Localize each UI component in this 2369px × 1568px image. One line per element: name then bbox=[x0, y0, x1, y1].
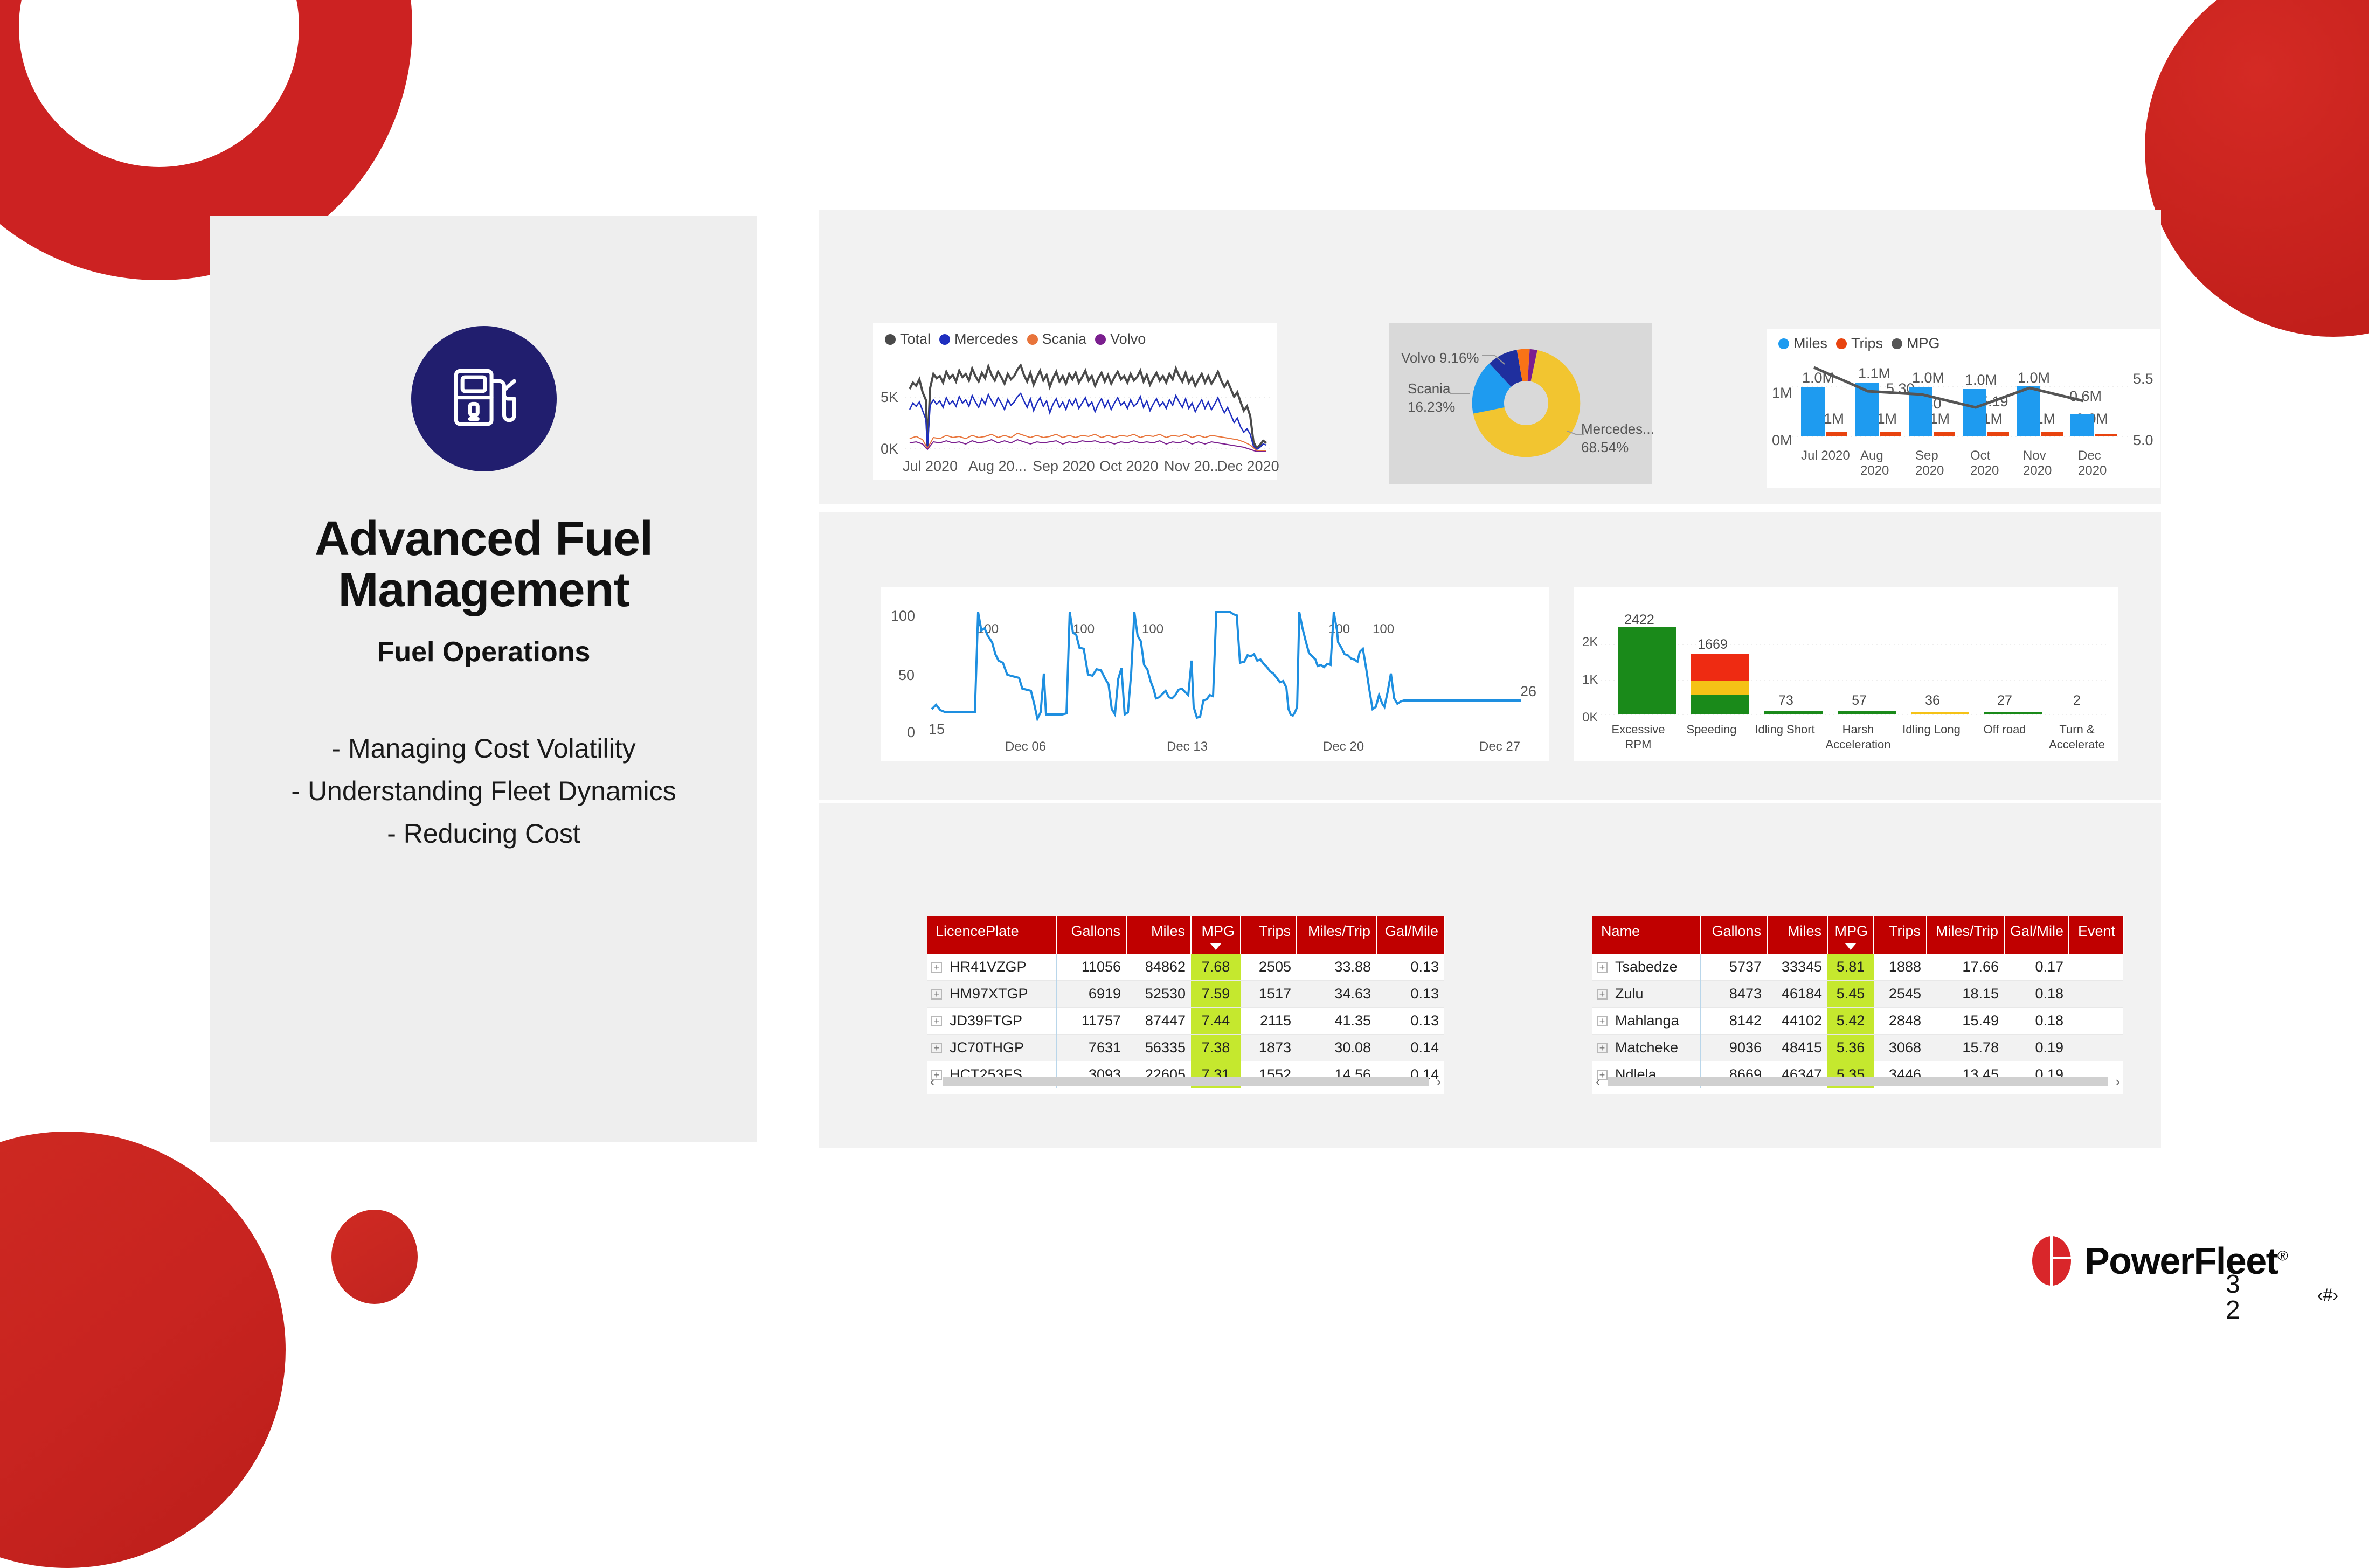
cell-miles-trip: 41.35 bbox=[1297, 1008, 1376, 1035]
row-expander-icon[interactable]: + bbox=[1597, 1016, 1608, 1026]
legend-label-volvo: Volvo bbox=[1110, 331, 1146, 348]
title-panel: Advanced Fuel Management Fuel Operations… bbox=[210, 216, 757, 1142]
col-header-miles-trip[interactable]: Miles/Trip bbox=[1297, 916, 1376, 954]
xaxis-cat-speeding: Speeding bbox=[1673, 722, 1750, 737]
cell-gal-mile: 0.18 bbox=[2004, 1008, 2069, 1035]
col-header-trips[interactable]: Trips bbox=[1241, 916, 1297, 954]
xaxis-tick-dec06: Dec 06 bbox=[1005, 739, 1046, 754]
drivers-ranking-table: Name Gallons Miles MPG Trips Miles/Trip … bbox=[1592, 916, 2124, 1088]
yaxis-tick-0k: 0K bbox=[881, 441, 898, 457]
col-header-miles[interactable]: Miles bbox=[1126, 916, 1191, 954]
powerfleet-logo-mark-icon bbox=[2031, 1234, 2073, 1288]
xaxis-tick-aug: Aug2020 bbox=[1860, 448, 1889, 478]
col-header-gal-mile[interactable]: Gal/Mile bbox=[1376, 916, 1444, 954]
fuel-pump-icon bbox=[444, 358, 524, 439]
daily-fuel-plot bbox=[905, 350, 1272, 455]
cell-miles: 87447 bbox=[1126, 1008, 1191, 1035]
cell-miles: 48415 bbox=[1767, 1035, 1827, 1061]
cell-licenceplate: +JC70THGP bbox=[927, 1035, 1056, 1061]
legend-dot-miles bbox=[1778, 338, 1789, 349]
cell-event bbox=[2069, 1008, 2123, 1035]
cell-trips: 1888 bbox=[1874, 954, 1927, 981]
page-number-placeholder: ‹#› bbox=[2317, 1285, 2338, 1305]
xaxis-tick-oct: Oct 2020 bbox=[1099, 458, 1159, 475]
miles-trips-mpg-plot bbox=[1792, 361, 2132, 442]
cell-trips: 2505 bbox=[1241, 954, 1297, 981]
yaxis-tick-1m: 1M bbox=[1772, 385, 1792, 401]
row-expander-icon[interactable]: + bbox=[931, 989, 942, 1000]
legend-label-miles: Miles bbox=[1793, 335, 1827, 352]
chart-fuel-level-by-day[interactable]: 100 50 0 15 26 100 100 100 100 100 Dec 0… bbox=[881, 587, 1549, 761]
cell-gallons: 7631 bbox=[1056, 1035, 1126, 1061]
cell-value: HM97XTGP bbox=[950, 986, 1028, 1002]
cell-trips: 1873 bbox=[1241, 1035, 1297, 1061]
horizontal-scrollbar-fleet[interactable]: ‹ › bbox=[927, 1072, 1444, 1091]
xaxis-tick-oct: Oct2020 bbox=[1970, 448, 1999, 478]
yaxis-tick-50: 50 bbox=[898, 667, 915, 684]
row-expander-icon[interactable]: + bbox=[1597, 1043, 1608, 1053]
cell-gallons: 5737 bbox=[1700, 954, 1767, 981]
page-number: 3 2 bbox=[2226, 1272, 2240, 1323]
legend-dot-mpg bbox=[1892, 338, 1902, 349]
col-header-mpg[interactable]: MPG bbox=[1827, 916, 1874, 954]
cell-gallons: 8473 bbox=[1700, 981, 1767, 1008]
col-header-name[interactable]: Name bbox=[1592, 916, 1700, 954]
legend-dot-total bbox=[885, 334, 896, 345]
cell-miles-trip: 34.63 bbox=[1297, 981, 1376, 1008]
legend-label-mpg: MPG bbox=[1907, 335, 1940, 352]
table-row[interactable]: +Mahlanga 8142 44102 5.42 2848 15.49 0.1… bbox=[1592, 1008, 2123, 1035]
scroll-left-arrow[interactable]: ‹ bbox=[930, 1073, 935, 1090]
chart-fuel-consumption-make-model[interactable]: Volvo 9.16% Scania 16.23% Mercedes... 68… bbox=[1389, 323, 1652, 484]
col-header-trips[interactable]: Trips bbox=[1874, 916, 1927, 954]
legend-dot-volvo bbox=[1095, 334, 1106, 345]
legend-item-trips: Trips bbox=[1836, 335, 1883, 352]
legend-dot-scania bbox=[1027, 334, 1038, 345]
yaxis-tick-0: 0 bbox=[907, 724, 915, 741]
legend-dot-trips bbox=[1836, 338, 1847, 349]
cell-value: JD39FTGP bbox=[950, 1012, 1022, 1029]
cell-trips: 2545 bbox=[1874, 981, 1927, 1008]
cell-gal-mile: 0.13 bbox=[1376, 954, 1444, 981]
cell-name: +Matcheke bbox=[1592, 1035, 1700, 1061]
cell-gal-mile: 0.17 bbox=[2004, 954, 2069, 981]
table-row[interactable]: +HR41VZGP 11056 84862 7.68 2505 33.88 0.… bbox=[927, 954, 1444, 981]
xaxis-tick-sep: Sep 2020 bbox=[1033, 458, 1095, 475]
donut-leader-lines bbox=[1389, 323, 1652, 484]
cell-gal-mile: 0.13 bbox=[1376, 1008, 1444, 1035]
cell-mpg: 5.42 bbox=[1827, 1008, 1874, 1035]
registered-trademark: ® bbox=[2277, 1248, 2287, 1264]
yaxis-tick-1k: 1K bbox=[1582, 672, 1598, 688]
table-row[interactable]: +HM97XTGP 6919 52530 7.59 1517 34.63 0.1… bbox=[927, 981, 1444, 1008]
legend-item-mpg: MPG bbox=[1892, 335, 1940, 352]
cell-miles-trip: 15.49 bbox=[1927, 1008, 2004, 1035]
table-row[interactable]: +Matcheke 9036 48415 5.36 3068 15.78 0.1… bbox=[1592, 1035, 2123, 1061]
cell-mpg: 5.81 bbox=[1827, 954, 1874, 981]
col-header-gallons[interactable]: Gallons bbox=[1700, 916, 1767, 954]
legend-label-mercedes: Mercedes bbox=[954, 331, 1019, 348]
row-expander-icon[interactable]: + bbox=[931, 1043, 942, 1053]
cell-trips: 3068 bbox=[1874, 1035, 1927, 1061]
bullet-item: - Understanding Fleet Dynamics bbox=[210, 770, 757, 813]
brand-text: PowerFleet bbox=[2084, 1240, 2277, 1282]
yaxis-tick-2k: 2K bbox=[1582, 635, 1598, 650]
page-number-line2: 2 bbox=[2226, 1298, 2240, 1323]
scrollbar-track[interactable] bbox=[1608, 1077, 2108, 1086]
cell-trips: 1517 bbox=[1241, 981, 1297, 1008]
cell-gal-mile: 0.14 bbox=[1376, 1035, 1444, 1061]
decorative-circle-bottom-left bbox=[0, 1132, 286, 1568]
cell-miles-trip: 17.66 bbox=[1927, 954, 2004, 981]
cell-event bbox=[2069, 954, 2123, 981]
cell-miles-trip: 18.15 bbox=[1927, 981, 2004, 1008]
cell-miles-trip: 30.08 bbox=[1297, 1035, 1376, 1061]
cell-miles-trip: 33.88 bbox=[1297, 954, 1376, 981]
chart-maneuver-statistics[interactable]: 2K 1K 0K 2422 1669 73 57 36 27 2 2415 73… bbox=[1574, 587, 2118, 761]
xaxis-tick-nov: Nov2020 bbox=[2023, 448, 2052, 478]
cell-mpg: 7.44 bbox=[1191, 1008, 1241, 1035]
col-header-miles[interactable]: Miles bbox=[1767, 916, 1827, 954]
legend-label-trips: Trips bbox=[1851, 335, 1883, 352]
cell-licenceplate: +JD39FTGP bbox=[927, 1008, 1056, 1035]
table-row[interactable]: +Tsabedze 5737 33345 5.81 1888 17.66 0.1… bbox=[1592, 954, 2123, 981]
xaxis-cat-turn-accel: Turn & Accelerate bbox=[2038, 722, 2116, 752]
cell-gallons: 11757 bbox=[1056, 1008, 1126, 1035]
cell-name: +Mahlanga bbox=[1592, 1008, 1700, 1035]
table-row[interactable]: +Zulu 8473 46184 5.45 2545 18.15 0.18 bbox=[1592, 981, 2123, 1008]
row-expander-icon[interactable]: + bbox=[931, 962, 942, 973]
decorative-circle-top-right bbox=[2145, 0, 2369, 337]
cell-event bbox=[2069, 1035, 2123, 1061]
cell-gallons: 8142 bbox=[1700, 1008, 1767, 1035]
scroll-right-arrow[interactable]: › bbox=[2115, 1073, 2120, 1090]
legend-item-scania: Scania bbox=[1027, 331, 1087, 348]
cell-licenceplate: +HM97XTGP bbox=[927, 981, 1056, 1008]
cell-miles: 84862 bbox=[1126, 954, 1191, 981]
maneuver-plot bbox=[1601, 620, 2107, 717]
horizontal-scrollbar-drivers[interactable]: ‹ › bbox=[1592, 1072, 2123, 1091]
cell-miles: 33345 bbox=[1767, 954, 1827, 981]
table-header-row: Name Gallons Miles MPG Trips Miles/Trip … bbox=[1592, 916, 2123, 954]
page-title-line-2: Management bbox=[260, 565, 708, 616]
col-header-mpg[interactable]: MPG bbox=[1191, 916, 1241, 954]
page-title: Advanced Fuel Management bbox=[260, 514, 708, 616]
legend-miles-trips-mpg: Miles Trips MPG bbox=[1778, 335, 1940, 352]
table-row[interactable]: +JD39FTGP 11757 87447 7.44 2115 41.35 0.… bbox=[927, 1008, 1444, 1035]
cell-value: Zulu bbox=[1615, 986, 1644, 1002]
cell-miles: 46184 bbox=[1767, 981, 1827, 1008]
cell-miles: 44102 bbox=[1767, 1008, 1827, 1035]
xaxis-tick-dec27: Dec 27 bbox=[1479, 739, 1520, 754]
xaxis-cat-idling-long: Idling Long bbox=[1893, 722, 1970, 737]
y2axis-tick-50: 5.0 bbox=[2133, 432, 2153, 449]
chart-daily-fuel-consumption[interactable]: Total Mercedes Scania Volvo 5K 0K Jul 20… bbox=[873, 323, 1277, 480]
cell-value: JC70THGP bbox=[950, 1039, 1024, 1056]
xaxis-tick-dec: Dec2020 bbox=[2078, 448, 2107, 478]
xaxis-tick-dec20: Dec 20 bbox=[1323, 739, 1364, 754]
cell-miles: 56335 bbox=[1126, 1035, 1191, 1061]
col-header-miles-trip[interactable]: Miles/Trip bbox=[1927, 916, 2004, 954]
legend-daily-fuel: Total Mercedes Scania Volvo bbox=[885, 331, 1146, 348]
col-header-event[interactable]: Event bbox=[2069, 916, 2123, 954]
xaxis-tick-sep: Sep2020 bbox=[1915, 448, 1944, 478]
xaxis-tick-dec: Dec 2020 bbox=[1217, 458, 1279, 475]
xaxis-tick-jul: Jul 2020 bbox=[1801, 448, 1850, 463]
xaxis-cat-idling-short: Idling Short bbox=[1746, 722, 1824, 737]
cell-mpg: 5.36 bbox=[1827, 1035, 1874, 1061]
cell-value: Mahlanga bbox=[1615, 1012, 1679, 1029]
cell-event bbox=[2069, 981, 2123, 1008]
bullet-list: - Managing Cost Volatility - Understandi… bbox=[210, 727, 757, 855]
xaxis-tick-nov: Nov 20... bbox=[1164, 458, 1222, 475]
xaxis-tick-jul: Jul 2020 bbox=[903, 458, 958, 475]
cell-name: +Tsabedze bbox=[1592, 954, 1700, 981]
page-number-line1: 3 bbox=[2226, 1272, 2240, 1298]
xaxis-tick-dec13: Dec 13 bbox=[1167, 739, 1208, 754]
bullet-item: - Reducing Cost bbox=[210, 813, 757, 855]
cell-gallons: 6919 bbox=[1056, 981, 1126, 1008]
fleet-ranking-table: LicencePlate Gallons Miles MPG Trips Mil… bbox=[927, 916, 1445, 1088]
page-subtitle: Fuel Operations bbox=[377, 636, 591, 668]
cell-mpg: 7.68 bbox=[1191, 954, 1241, 981]
cell-gallons: 9036 bbox=[1700, 1035, 1767, 1061]
col-header-licenceplate[interactable]: LicencePlate bbox=[927, 916, 1056, 954]
yaxis-tick-0k: 0K bbox=[1582, 710, 1598, 725]
legend-dot-mercedes bbox=[939, 334, 950, 345]
col-header-gal-mile[interactable]: Gal/Mile bbox=[2004, 916, 2069, 954]
legend-item-volvo: Volvo bbox=[1095, 331, 1146, 348]
fuel-pump-badge bbox=[411, 326, 557, 471]
legend-item-mercedes: Mercedes bbox=[939, 331, 1019, 348]
cell-mpg: 7.59 bbox=[1191, 981, 1241, 1008]
scroll-right-arrow[interactable]: › bbox=[1436, 1073, 1441, 1090]
row-expander-icon[interactable]: + bbox=[931, 1016, 942, 1026]
cell-value: HR41VZGP bbox=[950, 959, 1027, 975]
bullet-item: - Managing Cost Volatility bbox=[210, 727, 757, 770]
xaxis-tick-aug: Aug 20... bbox=[968, 458, 1027, 475]
legend-label-total: Total bbox=[900, 331, 931, 348]
fuel-level-plot bbox=[929, 609, 1532, 730]
table-row[interactable]: +JC70THGP 7631 56335 7.38 1873 30.08 0.1… bbox=[927, 1035, 1444, 1061]
cell-gallons: 11056 bbox=[1056, 954, 1126, 981]
powerfleet-wordmark: PowerFleet® bbox=[2084, 1239, 2287, 1282]
legend-item-miles: Miles bbox=[1778, 335, 1827, 352]
y2axis-tick-55: 5.5 bbox=[2133, 371, 2153, 387]
cell-miles: 52530 bbox=[1126, 981, 1191, 1008]
row-expander-icon[interactable]: + bbox=[1597, 962, 1608, 973]
scroll-left-arrow[interactable]: ‹ bbox=[1596, 1073, 1601, 1090]
cell-trips: 2115 bbox=[1241, 1008, 1297, 1035]
scrollbar-track[interactable] bbox=[943, 1077, 1429, 1086]
xaxis-cat-off-road: Off road bbox=[1966, 722, 2044, 737]
cell-miles-trip: 15.78 bbox=[1927, 1035, 2004, 1061]
yaxis-tick-100: 100 bbox=[891, 608, 915, 625]
xaxis-cat-harsh-accel: Harsh Acceleration bbox=[1819, 722, 1897, 752]
table-fuel-ranking-fleet[interactable]: LicencePlate Gallons Miles MPG Trips Mil… bbox=[927, 916, 1444, 1094]
col-header-gallons[interactable]: Gallons bbox=[1056, 916, 1126, 954]
yaxis-tick-5k: 5K bbox=[881, 389, 898, 406]
row-expander-icon[interactable]: + bbox=[1597, 989, 1608, 1000]
cell-name: +Zulu bbox=[1592, 981, 1700, 1008]
yaxis-tick-0m: 0M bbox=[1772, 432, 1792, 449]
table-header-row: LicencePlate Gallons Miles MPG Trips Mil… bbox=[927, 916, 1444, 954]
cell-value: Tsabedze bbox=[1615, 959, 1678, 975]
decorative-ellipse-bottom-left bbox=[331, 1210, 418, 1304]
cell-licenceplate: +HR41VZGP bbox=[927, 954, 1056, 981]
cell-mpg: 7.38 bbox=[1191, 1035, 1241, 1061]
cell-gal-mile: 0.13 bbox=[1376, 981, 1444, 1008]
powerfleet-logo: PowerFleet® bbox=[2031, 1234, 2287, 1288]
legend-item-total: Total bbox=[885, 331, 931, 348]
table-fuel-ranking-drivers[interactable]: Name Gallons Miles MPG Trips Miles/Trip … bbox=[1592, 916, 2123, 1094]
cell-gal-mile: 0.18 bbox=[2004, 981, 2069, 1008]
legend-label-scania: Scania bbox=[1042, 331, 1087, 348]
chart-miles-trips-mpg[interactable]: Miles Trips MPG 1M 0M 5.5 5.0 1.0M 1.1M … bbox=[1767, 329, 2160, 488]
cell-value: Matcheke bbox=[1615, 1039, 1678, 1056]
xaxis-cat-excessive-rpm: Excessive RPM bbox=[1599, 722, 1677, 752]
cell-gal-mile: 0.19 bbox=[2004, 1035, 2069, 1061]
cell-mpg: 5.45 bbox=[1827, 981, 1874, 1008]
cell-trips: 2848 bbox=[1874, 1008, 1927, 1035]
page-title-line-1: Advanced Fuel bbox=[260, 514, 708, 565]
